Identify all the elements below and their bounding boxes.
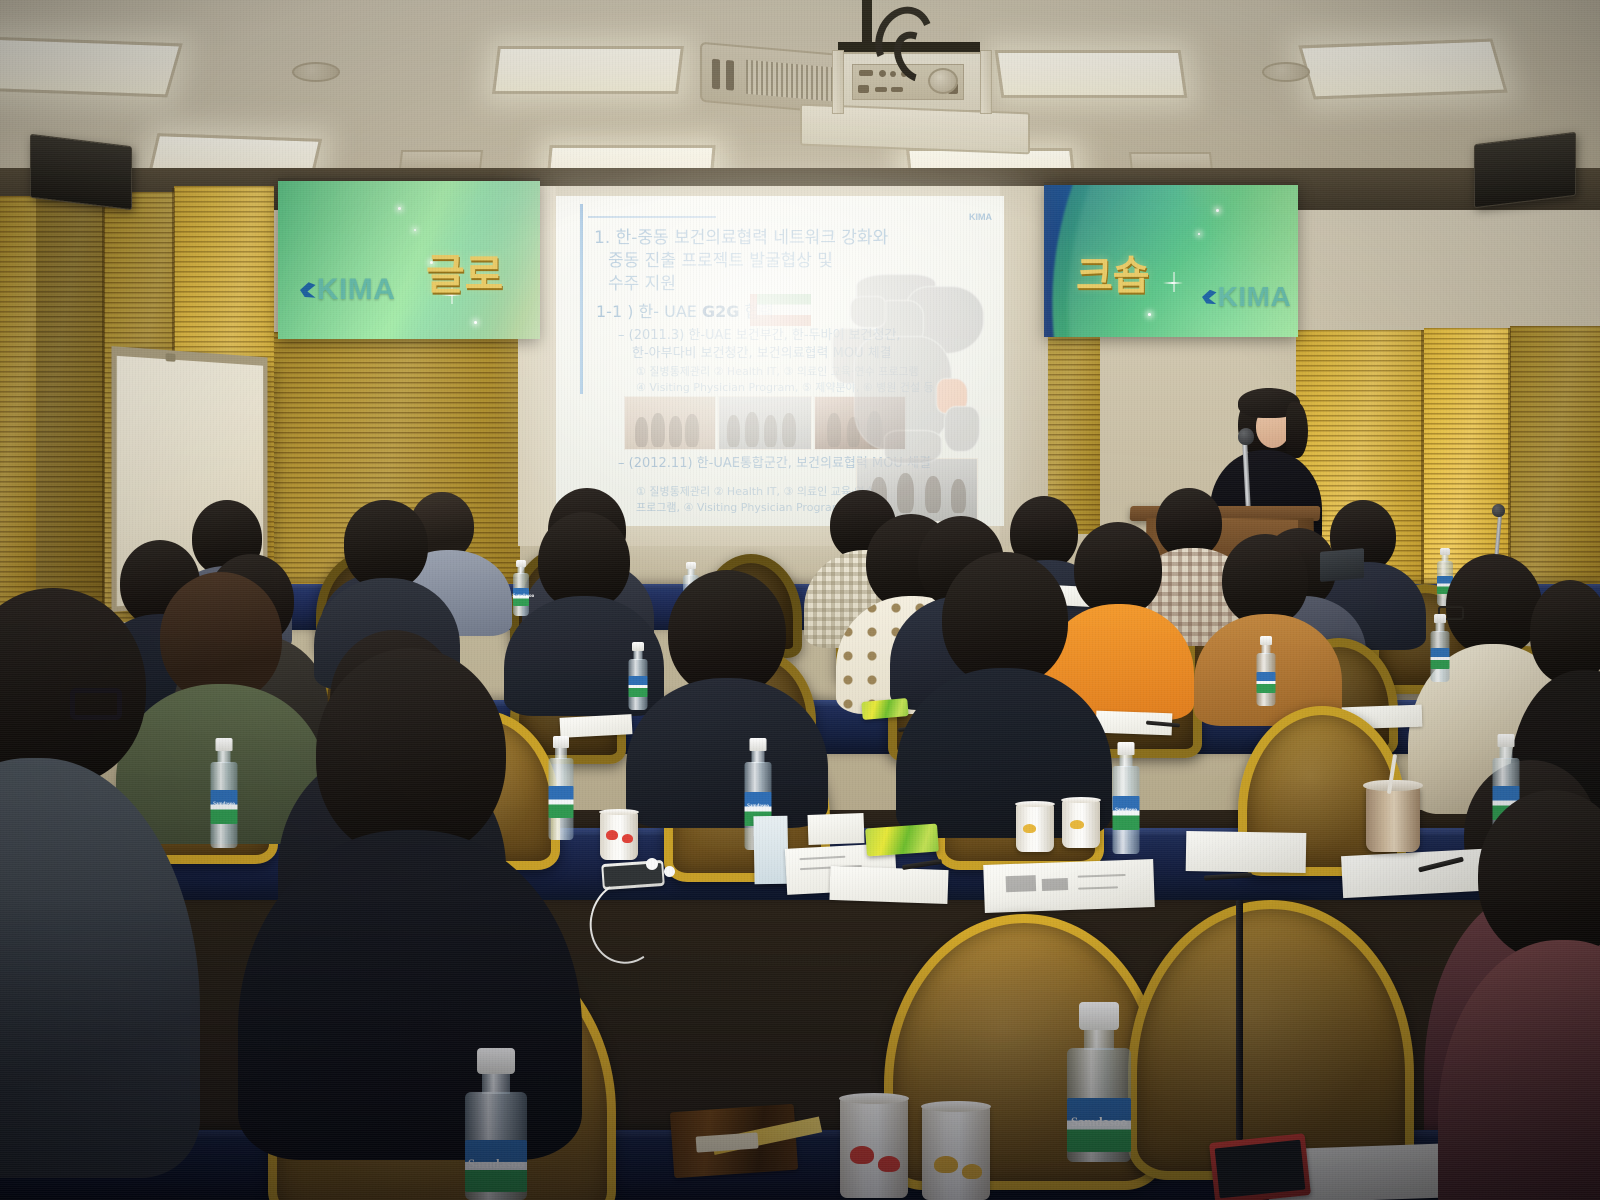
bottle-brand-text-5: Samdasoo [465,1156,527,1172]
handout-line-3 [1078,874,1126,878]
bottle-label: Samdasoo [513,588,529,606]
handout-line-1 [799,856,845,860]
water-bottle-row3-2 [628,642,648,710]
bottle-label-6 [1257,672,1276,693]
banner-right: 크숍 KIMA [1044,182,1298,337]
conference-room-photo: KIMA 글로 크숍 KIMA KIMA 1. 한-중동 보건의료협력 네트워크… [0,0,1600,1200]
map-region-oman [944,406,980,452]
bottle-brand-text-3: Samdasoo [745,804,772,809]
wall-seam-3 [1421,330,1424,620]
person-row3-7-head [1074,522,1162,616]
smartphone-front-red-case [1209,1133,1311,1200]
paper-cup-pattern-6 [878,1156,900,1172]
bottle-cap-7 [1434,614,1446,623]
paper-cup-pattern-3 [1023,824,1036,833]
secondary-microphone-head [1492,504,1505,517]
handout-row2-4 [983,859,1155,913]
water-bottle-front-1: Samdasoo [464,1048,528,1200]
slide-subtitle-prefix: 1-1 ) 한- UAE [596,302,702,321]
paper-cup-rim-3 [1061,797,1101,803]
iced-coffee-lid [1363,780,1423,791]
paper-cup-rim-2 [1015,801,1055,807]
middle-east-map [832,274,988,474]
earbud-1 [646,858,658,870]
projector-support-arm-left [832,50,844,114]
person-row3-10-head [1530,580,1600,684]
handout-row2-1 [807,813,864,845]
uae-flag-icon [750,294,811,326]
bottle-brand-text-2: Samdasoo [211,802,238,807]
handout-row2-5 [1186,831,1307,873]
bottle-label-9 [549,786,574,818]
smoke-detector-2 [1262,62,1310,82]
bottle-label-11: Samdasoo [1113,796,1140,830]
earbud-2 [664,866,675,877]
bottle-neck-14 [1084,1030,1114,1050]
kima-mark-icon-2 [1202,290,1217,305]
iced-coffee-cup [1366,786,1420,852]
projector-port-hdmi-3 [891,87,903,92]
paper-cup-pattern-1 [606,830,618,840]
slide-kima-logo: KIMA [969,212,992,222]
map-region-yemen [884,430,942,464]
map-region-syria [850,296,886,328]
bottle-brand-text: Samdasoo [513,594,529,599]
bottle-cap-10 [750,738,767,751]
projector-port-hdmi-2 [875,87,887,92]
paper-cup-pattern-4 [1070,820,1084,829]
wall-panel-left-5 [0,196,36,626]
handout-line-4 [1078,886,1118,889]
bottle-cap-2 [686,562,696,569]
slide-subtitle: 1-1 ) 한- UAE G2G 협력 [596,298,774,322]
bottle-brand-text-4: Samdasoo [1113,808,1140,813]
projector-port-audio-1 [879,70,886,77]
projector-port-hdmi-1 [858,85,869,93]
paper-cup-rim [599,809,639,815]
paper-cup-pattern-2 [622,834,633,843]
wall-plain-right-strip [1000,186,1048,546]
water-bottle-row2-4: Samdasoo [1112,742,1140,854]
kima-wordmark-2: KIMA [1218,281,1292,313]
handout-image-2 [1006,875,1037,892]
green-snack-bag-row2 [865,824,939,857]
water-bottle-front-2: Samdasoo [1066,1002,1132,1162]
bottle-cap-5 [632,642,644,651]
notebook-row2 [753,816,788,885]
paper-cup-rim-4 [839,1093,909,1104]
bottle-neck-13 [482,1074,510,1094]
bottle-brand-text-6: Samdasoo [1067,1114,1131,1130]
slide-left-accent-line [580,204,583,394]
water-bottle-row2-1: Samdasoo [210,738,238,848]
paper-cup-pattern-7 [934,1156,958,1173]
wall-speaker-left [30,134,132,211]
projection-screen: KIMA 1. 한-중동 보건의료협력 네트워크 강화와 중동 진출 프로젝트 … [556,196,1004,526]
bottle-cap-12 [1498,734,1515,747]
handout-row3-1 [560,714,633,738]
projector-mount-bracket [862,0,872,46]
water-bottle-back-1: Samdasoo [512,560,529,616]
water-bottle-row2-2 [548,736,574,840]
water-bottle-row3-3 [1256,636,1276,706]
banner-left-kima-logo: KIMA [300,273,395,307]
air-conditioning-unit [700,42,844,115]
bottle-cap-9 [553,736,569,748]
smartphone-front-screen [1215,1140,1306,1199]
bottle-label-8: Samdasoo [211,790,238,824]
whiteboard-clip [166,353,176,362]
kima-mark-icon [300,282,316,298]
slide-subtitle-bold: G2G [702,302,739,321]
bottle-label-7 [1431,648,1450,669]
slide-title-line-1: 1. 한-중동 보건의료협력 네트워크 강화와 [594,226,994,251]
slide-photo-2 [718,396,812,450]
bottle-cap-3 [1440,548,1450,555]
bottle-label-5 [629,676,648,697]
paper-cup-pattern-5 [850,1146,874,1164]
bottle-cap [516,560,526,567]
banner-right-kima-logo: KIMA [1202,281,1291,313]
slide-photo-1 [624,396,716,450]
bottle-cap-14 [1079,1002,1119,1030]
banner-left-hangul: 글로 [426,241,503,302]
ceiling-light-panel-3 [492,46,684,94]
slide-top-rule [588,216,716,218]
slide-title-line-2: 중동 진출 프로젝트 발굴협상 및 [608,249,998,274]
snack-label [696,1132,759,1152]
smoke-detector-1 [292,62,340,82]
paper-cup-row2-1 [600,812,638,860]
ceiling-light-panel-7 [1298,39,1508,100]
projector-port-vga [859,70,873,76]
kima-wordmark: KIMA [317,273,396,307]
bottle-cap-8 [216,738,233,751]
ceiling-light-panel-1 [0,37,183,98]
person-row3-3-head [344,500,428,590]
wall-seam-1 [102,192,105,624]
bottle-cap-11 [1118,742,1135,755]
person-front-2-head [316,648,506,858]
bottle-cap-6 [1260,636,1272,645]
air-vent-left [399,150,483,170]
person-row3-9-head [1446,554,1542,656]
laptop-back [1320,548,1364,582]
bottle-label-14: Samdasoo [1067,1098,1131,1152]
snack-package [670,1104,798,1178]
paper-cup-row2-3 [1062,800,1100,848]
banner-left: KIMA 글로 [278,178,540,339]
water-bottle-row3-4 [1430,614,1450,682]
bottle-cap-13 [477,1048,515,1074]
microphone-stand-pole [1236,900,1243,1140]
banner-right-hangul: 크숍 [1076,243,1150,301]
person-row3-8-head [1222,534,1308,626]
paper-cup-rim-5 [921,1101,991,1112]
paper-cup-pattern-8 [962,1164,982,1179]
handout-image-3 [1042,878,1068,891]
paper-cup-front-1 [840,1098,908,1198]
presenter-hair-side [1286,402,1308,458]
wall-speaker-right [1474,132,1576,209]
bottle-label-13: Samdasoo [465,1140,527,1192]
paper-cup-front-2 [922,1106,990,1200]
person-front-1-glasses-icon [70,688,122,720]
person-row2-4-head [942,552,1068,686]
ceiling-light-panel-5 [995,50,1188,98]
handout-row2-3 [829,866,948,904]
person-row2-1-head [160,572,282,702]
podium-microphone-head [1238,428,1254,445]
projector-support-arm-right [980,50,992,114]
paper-cup-row2-2 [1016,804,1054,852]
